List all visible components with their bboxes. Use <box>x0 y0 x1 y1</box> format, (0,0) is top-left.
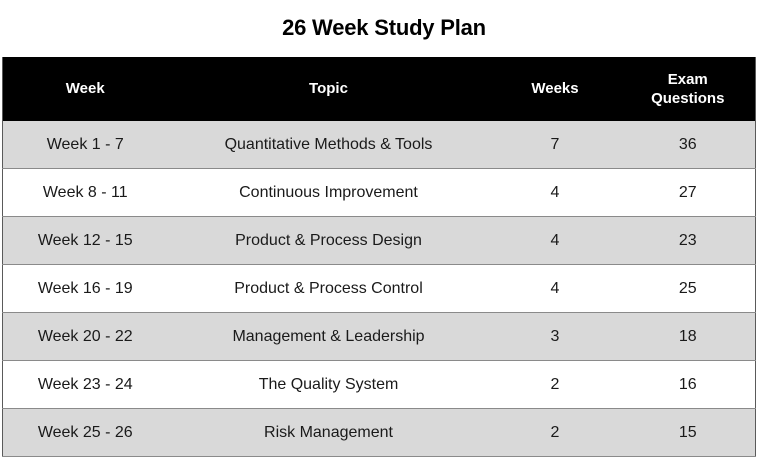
column-header-week: Week <box>3 57 168 121</box>
table-row: Week 1 - 7 Quantitative Methods & Tools … <box>3 121 756 169</box>
table-header: Week Topic Weeks ExamQuestions <box>3 57 756 121</box>
cell-week: Week 23 - 24 <box>3 361 168 409</box>
table-body: Week 1 - 7 Quantitative Methods & Tools … <box>3 121 756 457</box>
table-row: Week 23 - 24 The Quality System 2 16 <box>3 361 756 409</box>
cell-week: Week 8 - 11 <box>3 169 168 217</box>
cell-weeks: 4 <box>490 265 621 313</box>
cell-weeks: 4 <box>490 169 621 217</box>
cell-exam-questions: 27 <box>621 169 756 217</box>
column-header-exam-questions: ExamQuestions <box>621 57 756 121</box>
column-header-exam-line2: Questions <box>651 90 724 107</box>
cell-exam-questions: 15 <box>621 409 756 457</box>
cell-week: Week 25 - 26 <box>3 409 168 457</box>
cell-week: Week 1 - 7 <box>3 121 168 169</box>
column-header-weeks: Weeks <box>490 57 621 121</box>
study-plan-table: Week Topic Weeks ExamQuestions Week 1 - … <box>2 57 756 457</box>
cell-weeks: 2 <box>490 361 621 409</box>
cell-weeks: 3 <box>490 313 621 361</box>
study-plan-page: 26 Week Study Plan Week Topic Weeks Exam… <box>0 0 768 457</box>
cell-exam-questions: 18 <box>621 313 756 361</box>
cell-topic: Product & Process Control <box>168 265 490 313</box>
cell-exam-questions: 36 <box>621 121 756 169</box>
column-header-topic: Topic <box>168 57 490 121</box>
table-row: Week 16 - 19 Product & Process Control 4… <box>3 265 756 313</box>
cell-weeks: 2 <box>490 409 621 457</box>
cell-exam-questions: 16 <box>621 361 756 409</box>
cell-week: Week 20 - 22 <box>3 313 168 361</box>
cell-topic: The Quality System <box>168 361 490 409</box>
cell-weeks: 4 <box>490 217 621 265</box>
table-row: Week 8 - 11 Continuous Improvement 4 27 <box>3 169 756 217</box>
table-header-row: Week Topic Weeks ExamQuestions <box>3 57 756 121</box>
cell-topic: Quantitative Methods & Tools <box>168 121 490 169</box>
cell-week: Week 16 - 19 <box>3 265 168 313</box>
cell-topic: Risk Management <box>168 409 490 457</box>
cell-exam-questions: 25 <box>621 265 756 313</box>
page-title: 26 Week Study Plan <box>0 0 768 55</box>
cell-weeks: 7 <box>490 121 621 169</box>
cell-week: Week 12 - 15 <box>3 217 168 265</box>
table-row: Week 12 - 15 Product & Process Design 4 … <box>3 217 756 265</box>
column-header-exam-line1: Exam <box>668 71 708 88</box>
table-row: Week 25 - 26 Risk Management 2 15 <box>3 409 756 457</box>
cell-topic: Continuous Improvement <box>168 169 490 217</box>
cell-exam-questions: 23 <box>621 217 756 265</box>
table-row: Week 20 - 22 Management & Leadership 3 1… <box>3 313 756 361</box>
cell-topic: Product & Process Design <box>168 217 490 265</box>
cell-topic: Management & Leadership <box>168 313 490 361</box>
